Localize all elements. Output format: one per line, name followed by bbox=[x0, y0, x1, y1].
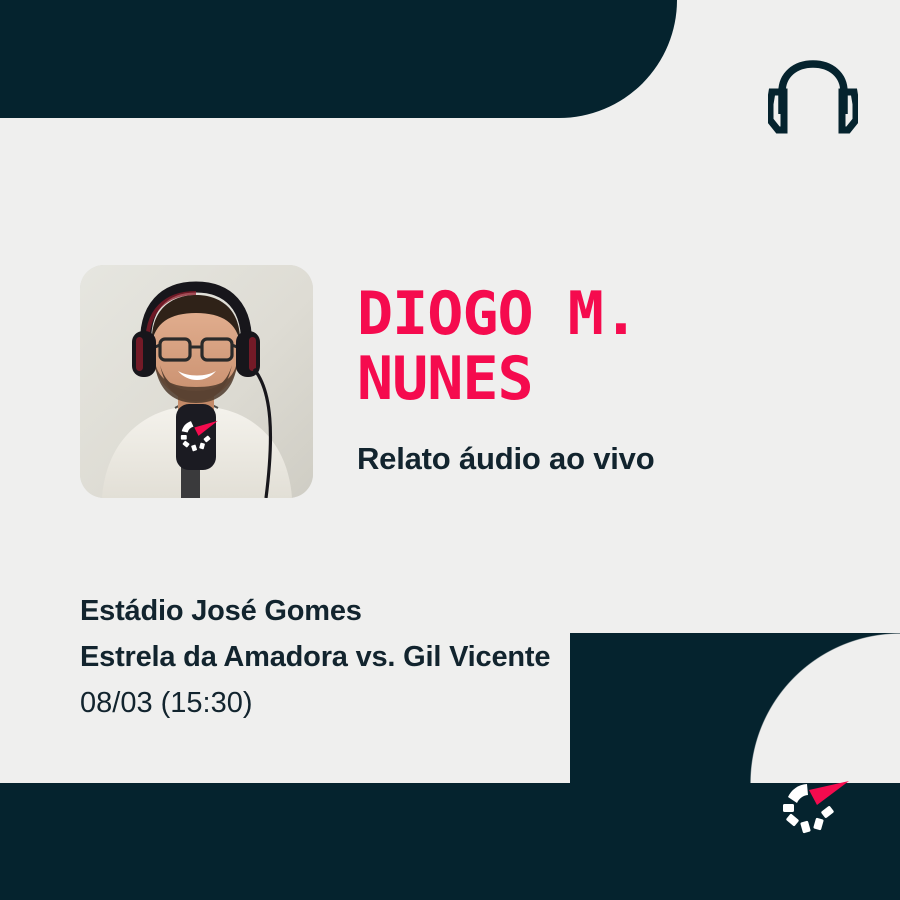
talent-name: DIOGO M. NUNES bbox=[357, 282, 827, 412]
talent-name-line-1: DIOGO M. bbox=[357, 282, 827, 347]
top-dark-band bbox=[0, 0, 677, 118]
brand-logo-icon bbox=[779, 778, 853, 834]
avatar bbox=[80, 265, 313, 498]
bottom-dark-band-curve bbox=[570, 633, 900, 783]
broadcast-announcement-card: DIOGO M. NUNES Relato áudio ao vivo Está… bbox=[0, 0, 900, 900]
talent-role: Relato áudio ao vivo bbox=[357, 441, 654, 477]
headphone-icon bbox=[768, 58, 858, 136]
bottom-dark-band bbox=[0, 783, 900, 900]
talent-name-line-2: NUNES bbox=[357, 347, 827, 412]
match-venue: Estádio José Gomes bbox=[80, 588, 840, 634]
